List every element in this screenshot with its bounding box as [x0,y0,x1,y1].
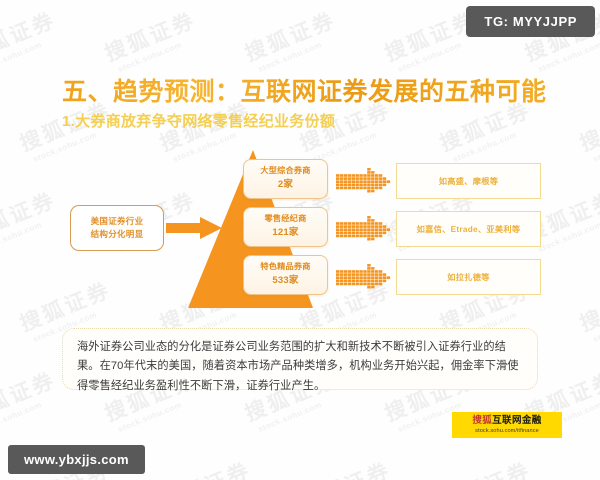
example-box-2: 如嘉信、Etrade、亚美利等 [396,211,541,247]
watermark-mark: 搜狐证券stock.sohu.com [295,454,399,480]
site-url-overlay: www.ybxjjs.com [8,445,145,474]
example-2-label: 如嘉信、Etrade、亚美利等 [417,223,521,235]
source-box: 美国证券行业 结构分化明显 [70,205,164,251]
note-text: 海外证券公司业态的分化是证券公司业务范围的扩大和新技术不断被引入证券行业的结果。… [77,341,519,392]
tier-3-count: 533家 [272,274,298,289]
page-title: 五、趋势预测：互联网证券发展的五种可能 [62,72,547,108]
example-box-3: 如拉扎德等 [396,259,541,295]
sohu-logo: 搜狐互联网金融 stock.sohu.com/itfinance [452,412,562,438]
source-box-line1: 美国证券行业 [91,215,144,228]
sohu-brand-black: 互联网金融 [492,415,542,426]
sohu-logo-url: stock.sohu.com/itfinance [475,428,539,434]
tier-box-1: 大型综合券商 2家 [243,159,328,199]
watermark-mark: 搜狐证券stock.sohu.com [155,454,259,480]
tier-1-count: 2家 [278,178,293,193]
watermark-mark: 搜狐证券stock.sohu.com [575,454,600,480]
sohu-logo-brand: 搜狐互联网金融 [472,416,541,426]
tier-box-2: 零售经纪商 121家 [243,207,328,247]
watermark-mark: 搜狐证券stock.sohu.com [435,454,539,480]
watermark-mark: 搜狐证券stock.sohu.com [240,4,344,76]
example-box-1: 如高盛、摩根等 [396,163,541,199]
flow-arrow-icon [166,217,222,239]
tier-2-name: 零售经纪商 [265,213,307,226]
slide-canvas: 搜狐证券stock.sohu.com搜狐证券stock.sohu.com搜狐证券… [0,0,600,480]
tier-3-name: 特色精品券商 [260,261,310,274]
source-box-line2: 结构分化明显 [91,228,144,241]
tier-box-3: 特色精品券商 533家 [243,255,328,295]
watermark-mark: 搜狐证券stock.sohu.com [100,4,204,76]
sohu-brand-red: 搜狐 [472,415,492,426]
example-3-label: 如拉扎德等 [447,271,489,283]
watermark-mark: 搜狐证券stock.sohu.com [0,364,64,436]
pixel-arrow-icon-3 [336,263,392,289]
example-1-label: 如高盛、摩根等 [439,175,498,187]
tg-tag-overlay: TG: MYYJJPP [466,6,595,37]
tier-1-name: 大型综合券商 [260,165,310,178]
pyramid-diagram: 美国证券行业 结构分化明显 大型综合券商 2家 零售经纪商 121家 特色精品券… [0,145,600,320]
note-box: 海外证券公司业态的分化是证券公司业务范围的扩大和新技术不断被引入证券行业的结果。… [62,328,538,390]
tier-2-count: 121家 [272,226,298,241]
pixel-arrow-icon-1 [336,167,392,193]
page-subtitle: 1.大券商放弃争夺网络零售经纪业务份额 [62,110,335,131]
pixel-arrow-icon-2 [336,215,392,241]
watermark-mark: 搜狐证券stock.sohu.com [0,4,64,76]
